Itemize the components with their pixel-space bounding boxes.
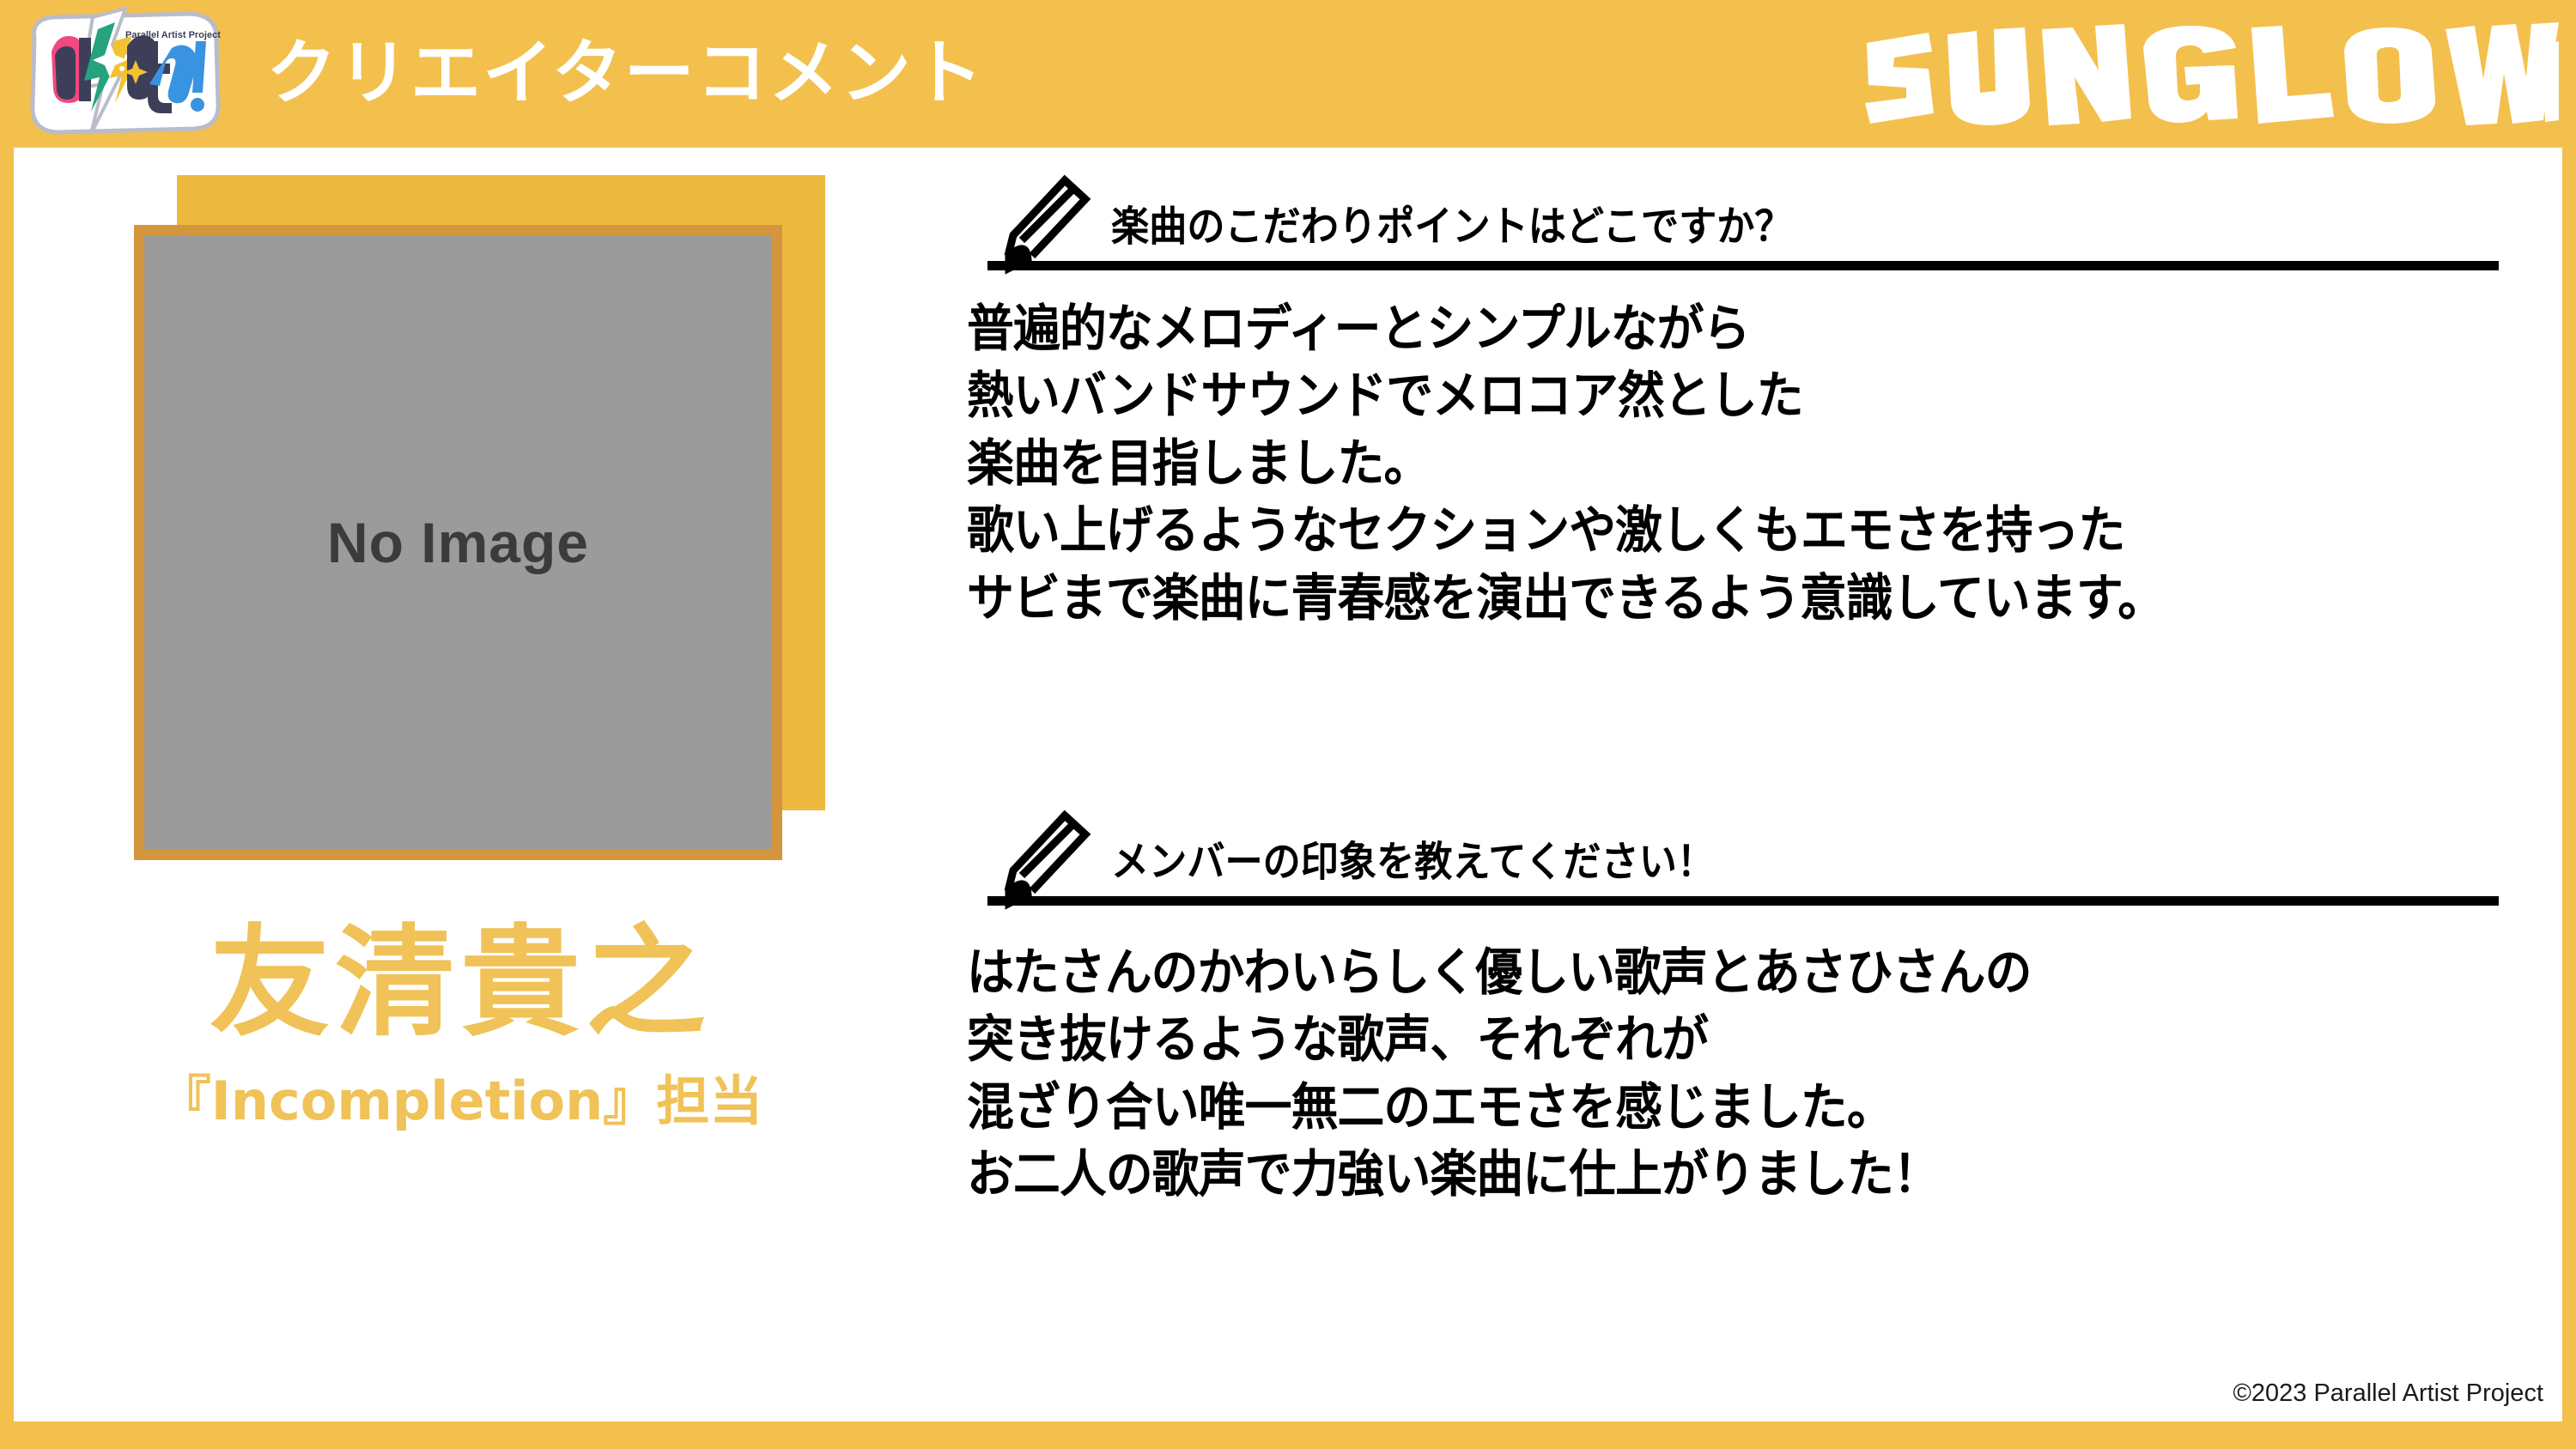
page-title: クリエイターコメント xyxy=(266,39,985,109)
answer-text: はたさんのかわいらしく優しい歌声とあさひさんの 突き抜けるような歌声、それぞれが… xyxy=(967,939,2412,1209)
qa-block: 楽曲のこだわりポイントはどこですか？ 普遍的なメロディーとシンプルながら 熱いバ… xyxy=(967,165,2521,276)
question-underline xyxy=(987,896,2499,906)
content-card: No Image 友清貴之 『Incompletion』担当 xyxy=(14,148,2562,1422)
artist-image-block: No Image xyxy=(134,175,821,853)
question-heading: 楽曲のこだわりポイントはどこですか？ xyxy=(967,165,2521,276)
qa-block: メンバーの印象を教えてください！ はたさんのかわいらしく優しい歌声とあさひさんの… xyxy=(967,800,2521,912)
artist-image-placeholder: No Image xyxy=(144,235,772,850)
sunglows-logo xyxy=(1856,17,2561,130)
svg-text:Parallel Artist Project: Parallel Artist Project xyxy=(125,30,221,40)
no-image-label: No Image xyxy=(327,510,589,575)
question-underline xyxy=(987,261,2499,270)
artist-credit: 『Incompletion』担当 xyxy=(134,1058,787,1135)
question-text: 楽曲のこだわりポイントはどこですか？ xyxy=(1111,192,1793,252)
image-frame: No Image xyxy=(134,225,782,860)
question-text: メンバーの印象を教えてください！ xyxy=(1111,828,1715,888)
qa-column: 楽曲のこだわりポイントはどこですか？ 普遍的なメロディーとシンプルながら 熱いバ… xyxy=(967,148,2521,1422)
copyright-notice: ©2023 Parallel Artist Project xyxy=(2233,1379,2543,1408)
creator-comment-card: Parallel Artist Project クリエイターコメント xyxy=(0,0,2576,1449)
page-header: Parallel Artist Project クリエイターコメント xyxy=(0,0,2576,148)
artist-column: No Image 友清貴之 『Incompletion』担当 xyxy=(134,148,855,1422)
answer-text: 普遍的なメロディーとシンプルながら 熱いバンドサウンドでメロコア然とした 楽曲を… xyxy=(967,295,2412,632)
parallel-artist-project-logo: Parallel Artist Project xyxy=(19,3,234,141)
artist-name: 友清貴之 xyxy=(134,920,787,1046)
question-heading: メンバーの印象を教えてください！ xyxy=(967,800,2521,912)
